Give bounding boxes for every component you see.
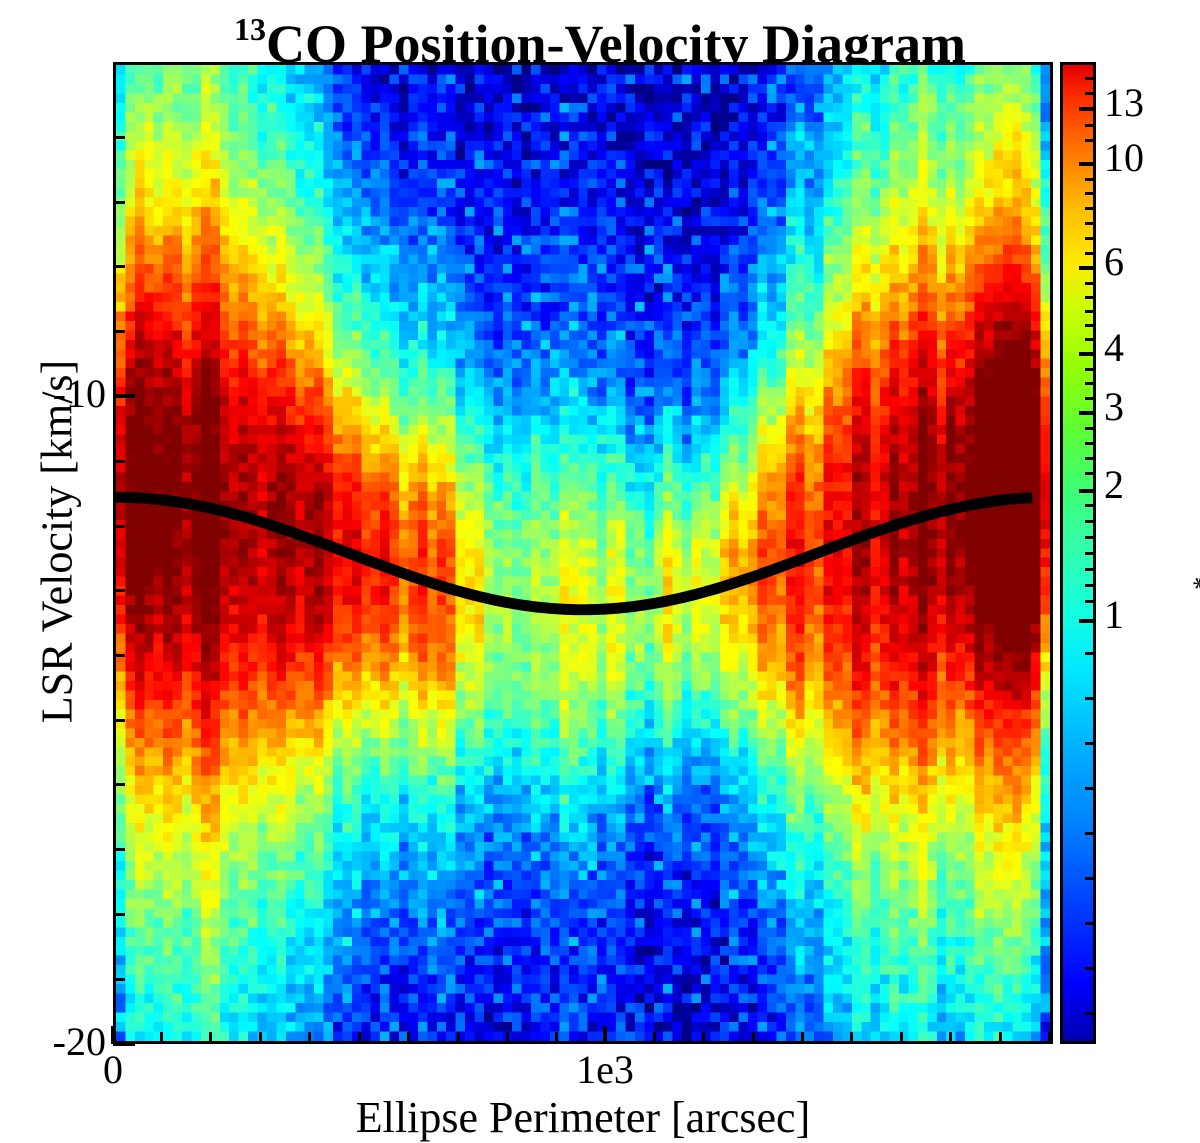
x-tick-minor [259,1032,262,1044]
x-tick-label: 0 [33,1046,193,1093]
colorbar-tick-major [1079,352,1093,356]
colorbar-tick-minor [1085,222,1093,225]
colorbar-tick-minor [1085,520,1093,523]
colorbar-tick-label: 13 [1104,79,1144,126]
x-tick-minor [702,1032,705,1044]
title-superscript: 13 [234,11,266,47]
colorbar-tick-label: 2 [1104,461,1124,508]
y-tick-minor [113,848,125,851]
colorbar-tick-major [1079,162,1093,166]
y-tick-minor [113,265,125,268]
colorbar-tick-minor [1085,457,1093,460]
y-tick-major [113,394,135,398]
colorbar-tick-minor [1085,397,1093,400]
colorbar-tick-minor [1085,922,1093,925]
colorbar-tick-major [1079,619,1093,623]
colorbar-tick-label: 10 [1104,134,1144,181]
x-tick-minor [308,1032,311,1044]
x-tick-minor [801,1032,804,1044]
x-tick-minor [457,1032,460,1044]
colorbar-tick-minor [1085,207,1093,210]
colorbar-tick-major [1079,489,1093,493]
x-axis-title: Ellipse Perimeter [arcsec] [113,1092,1053,1143]
y-tick-minor [113,719,125,722]
x-tick-minor [358,1032,361,1044]
colorbar-tick-minor [1085,382,1093,385]
y-axis-title: LSR Velocity [km/s] [32,292,83,792]
y-tick-minor [113,913,125,916]
colorbar-tick-minor [1085,310,1093,313]
colorbar-tick-minor [1085,584,1093,587]
colorbar-tick-minor [1085,178,1093,181]
colorbar-tick-minor [1085,442,1093,445]
colorbar-tick-minor [1085,252,1093,255]
y-tick-minor [113,136,125,139]
colorbar-tick-major [1079,411,1093,415]
colorbar-tick-label: 3 [1104,383,1124,430]
x-tick-minor [850,1032,853,1044]
y-tick-minor [113,978,125,981]
colorbar-tick-minor [1085,1012,1093,1015]
overlay-curve-layer [116,65,1050,1041]
colorbar-tick-label: 4 [1104,324,1124,371]
colorbar-tick-minor [1085,742,1093,745]
colorbar-tick-minor [1085,877,1093,880]
colorbar-tick-label: 6 [1104,238,1124,285]
x-tick-minor [653,1032,656,1044]
y-tick-minor [113,525,125,528]
colorbar-tick-minor [1085,600,1093,603]
x-tick-label: 1e3 [525,1046,685,1093]
x-tick-minor [900,1032,903,1044]
colorbar-tick-major [1079,266,1093,270]
colorbar-tick-minor [1085,92,1093,95]
colorbar-tick-minor [1085,832,1093,835]
y-tick-minor [113,201,125,204]
x-tick-major [603,1026,607,1044]
systemic-velocity-curve [116,497,1032,609]
x-tick-minor [1048,1032,1051,1044]
x-tick-minor [506,1032,509,1044]
x-tick-minor [999,1032,1002,1044]
colorbar-tick-minor [1085,536,1093,539]
y-tick-minor [113,460,125,463]
y-tick-minor [113,783,125,786]
plot-area[interactable] [113,62,1053,1044]
colorbar-tick-minor [1085,368,1093,371]
x-tick-minor [949,1032,952,1044]
colorbar-tick-major [1079,107,1093,111]
y-tick-minor [113,654,125,657]
colorbar-tick-minor [1085,296,1093,299]
colorbar-tick-minor [1085,652,1093,655]
colorbar-tick-minor [1085,139,1093,142]
x-tick-minor [209,1032,212,1044]
colorbar-tick-minor [1085,787,1093,790]
colorbar-tick-minor [1085,427,1093,430]
x-tick-minor [555,1032,558,1044]
y-tick-minor [113,330,125,333]
colorbar-tick-minor [1085,504,1093,507]
colorbar-tick-minor [1085,124,1093,127]
colorbar-tick-minor [1085,324,1093,327]
colorbar-tick-minor [1085,472,1093,475]
x-tick-minor [160,1032,163,1044]
colorbar-tick-minor [1085,77,1093,80]
colorbar-tick-minor [1085,568,1093,571]
colorbar-tick-minor [1085,237,1093,240]
colorbar[interactable] [1060,62,1096,1044]
x-tick-minor [407,1032,410,1044]
colorbar-tick-minor [1085,338,1093,341]
colorbar-tick-minor [1085,282,1093,285]
colorbar-tick-minor [1085,967,1093,970]
colorbar-tick-label: 1 [1104,591,1124,638]
y-tick-minor [113,589,125,592]
colorbar-tick-minor [1085,697,1093,700]
x-tick-major [111,1026,115,1044]
x-tick-minor [752,1032,755,1044]
colorbar-tick-minor [1085,192,1093,195]
colorbar-tick-minor [1085,552,1093,555]
